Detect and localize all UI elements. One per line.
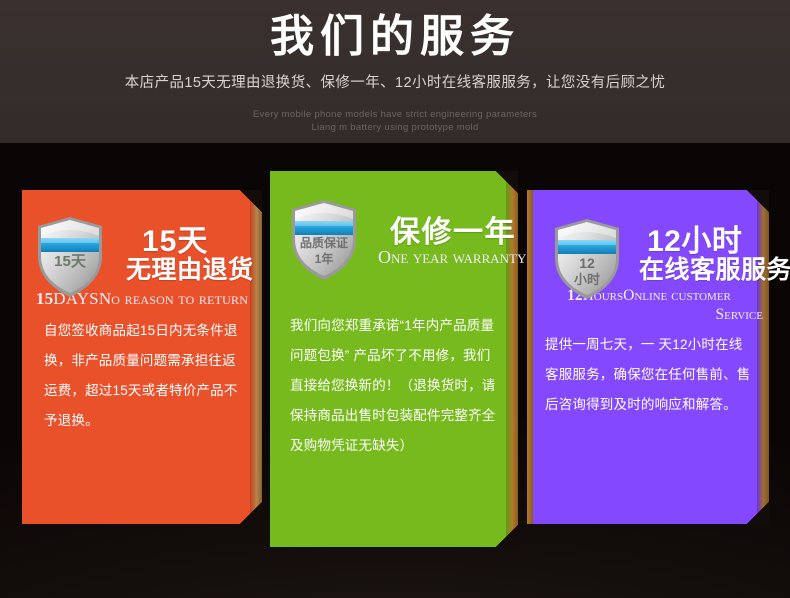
svg-text:小时: 小时 bbox=[574, 272, 600, 287]
card-heading-secondary: 在线客服服务 bbox=[639, 250, 790, 286]
service-card-customer-service: 12 小时 12小时 在线客服服务 12HoursOnline customer… bbox=[527, 190, 769, 524]
header-band: 我们的服务 本店产品15天无理由退换货、保修一年、12小时在线客服服务，让您没有… bbox=[0, 0, 790, 143]
card-english-line-2: Service bbox=[535, 305, 763, 324]
page-title: 我们的服务 bbox=[0, 8, 790, 66]
service-card-warranty: 品质保证 1年 保修一年 One year warranty 我们向您郑重承诺“… bbox=[270, 171, 518, 547]
header-subtitle: 本店产品15天无理由退换货、保修一年、12小时在线客服服务，让您没有后顾之忧 bbox=[0, 72, 790, 94]
shield-badge-icon: 15天 bbox=[34, 212, 106, 300]
svg-text:品质保证: 品质保证 bbox=[300, 235, 348, 250]
svg-text:15天: 15天 bbox=[54, 253, 87, 270]
header-english-line-2: Liang m battery using prototype mold bbox=[0, 121, 790, 134]
card-body-text: 我们向您郑重承诺“1年内产品质量问题包换” 产品坏了不用修，我们直接给您换新的！… bbox=[290, 311, 500, 461]
shield-badge-icon: 品质保证 1年 bbox=[288, 195, 360, 283]
card-heading-primary: 保修一年 bbox=[390, 207, 516, 251]
header-english-tagline: Every mobile phone models have strict en… bbox=[0, 108, 790, 134]
svg-text:1年: 1年 bbox=[315, 251, 334, 266]
card-body-text: 提供一周七天，一 天12小时在线客服服务，确保您在任何售前、售后咨询得到及时的响… bbox=[545, 330, 753, 420]
card-english-caption: One year warranty bbox=[378, 247, 514, 268]
card-body-text: 自您签收商品起15日内无条件退换，非产品质量问题需承担往返运费，超过15天或者特… bbox=[44, 316, 249, 436]
promo-banner: 我们的服务 本店产品15天无理由退换货、保修一年、12小时在线客服服务，让您没有… bbox=[0, 0, 790, 598]
card-heading-secondary: 无理由退货 bbox=[126, 250, 254, 286]
header-english-line-1: Every mobile phone models have strict en… bbox=[0, 108, 790, 121]
service-card-return-policy: 15天 15天 无理由退货 15DAYSNo reason to return … bbox=[22, 190, 262, 524]
svg-text:12: 12 bbox=[579, 255, 595, 271]
shield-badge-icon: 12 小时 bbox=[551, 214, 623, 302]
